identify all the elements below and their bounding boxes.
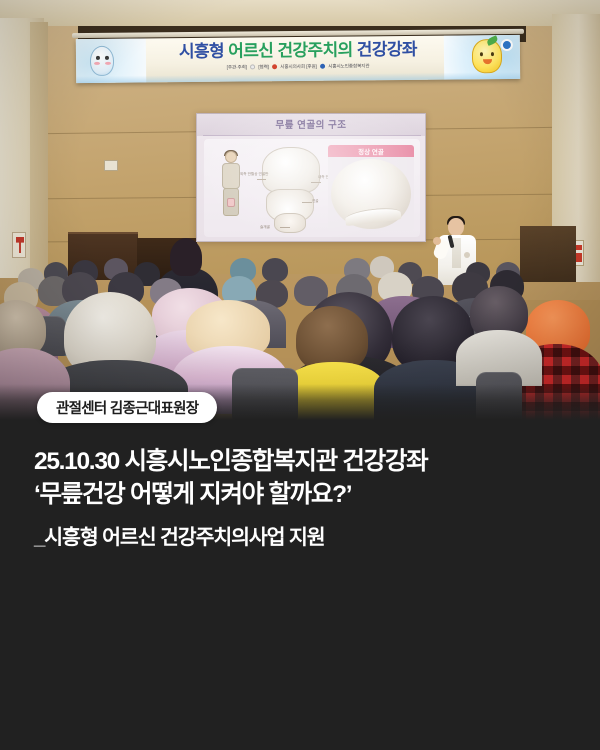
standing-staff-head — [170, 238, 202, 276]
caption-line-2: ‘무릎건강 어떻게 지켜야 할까요?’ — [34, 478, 574, 511]
promo-card: 시흥형 어르신 건강주치의 건강강좌 [주관·주최] [협력] 시흥시의사회 [… — [0, 0, 600, 750]
caption-block: 25.10.30 시흥시노인종합복지관 건강강좌 ‘무릎건강 어떻게 지켜야 할… — [34, 445, 574, 552]
caption-line-1: 25.10.30 시흥시노인종합복지관 건강강좌 — [34, 445, 574, 478]
lecture-hall-photo: 시흥형 어르신 건강주치의 건강강좌 [주관·주최] [협력] 시흥시의사회 [… — [0, 0, 600, 420]
audience-group — [0, 0, 600, 420]
audience-head — [262, 258, 288, 282]
caption-line-3: _시흥형 어르신 건강주치의사업 지원 — [34, 524, 574, 552]
speaker-name-badge-label: 관절센터 김종근대표원장 — [56, 397, 198, 418]
speaker-name-badge: 관절센터 김종근대표원장 — [37, 392, 217, 423]
